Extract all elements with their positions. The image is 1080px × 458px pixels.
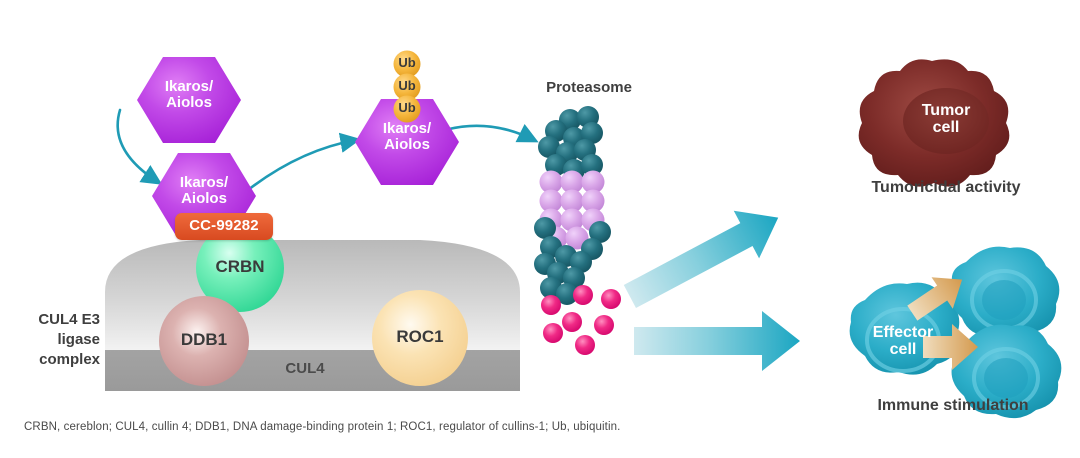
flow-arrow-immune <box>634 311 800 371</box>
flow-arrow-tumoricidal <box>617 194 791 321</box>
immune-caption: Immune stimulation <box>848 397 1058 415</box>
subunit-roc1 <box>372 290 468 386</box>
proteasome-label: Proteasome <box>519 79 659 96</box>
moa-diagram: CC-99282 Ikaros/ Aiolos Ikaros/ Aiolos I… <box>0 0 1080 458</box>
drug-chip <box>175 213 273 240</box>
ubiquitin-chain <box>394 51 421 123</box>
subunit-ddb1 <box>159 296 249 386</box>
arrow-substrate-release <box>248 140 356 190</box>
abbreviation-footnote: CRBN, cereblon; CUL4, cullin 4; DDB1, DN… <box>24 421 620 433</box>
hexagon-ikaros-aiolos-free <box>137 57 241 143</box>
arrow-to-proteasome <box>445 126 534 140</box>
diagram-canvas <box>0 0 1080 458</box>
tumoricidal-caption: Tumoricidal activity <box>846 179 1046 197</box>
proteasome-cap-top <box>538 106 603 181</box>
ligase-complex-caption: CUL4 E3 ligase complex <box>12 310 100 370</box>
degraded-peptides <box>541 285 621 355</box>
proteasome-structure <box>534 106 611 305</box>
tumor-cell <box>859 59 1010 186</box>
